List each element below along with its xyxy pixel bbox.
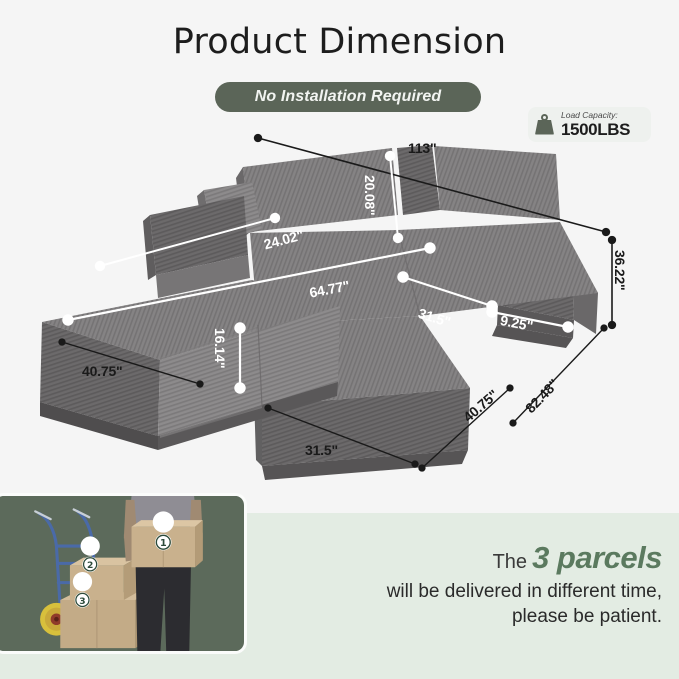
svg-text:2: 2 [87, 561, 93, 571]
dimension-label-overall-height: 36.22" [612, 250, 628, 290]
dimension-label-ottoman-depth: 31.5" [305, 442, 338, 458]
svg-text:1: 1 [160, 538, 167, 549]
no-installation-badge-label: No Installation Required [255, 88, 441, 106]
load-capacity-label: Load Capacity: [561, 111, 630, 120]
delivery-text-line2: will be delivered in different time, [280, 579, 662, 604]
svg-text:3: 3 [79, 597, 85, 607]
delivery-text-line3: please be patient. [280, 604, 662, 629]
delivery-message: The3 parcels will be delivered in differ… [280, 540, 662, 629]
infographic-root: Product Dimension No Installation Requir… [0, 0, 679, 679]
dimension-label-seat-height: 16.14" [212, 328, 228, 368]
sofa-illustration: 113" 20.08" 24.02" 64.77" 31.5" 9.25" 36… [0, 120, 679, 495]
no-installation-badge: No Installation Required [215, 82, 481, 112]
delivery-photo: 1 2 3 [0, 493, 247, 654]
dimension-label-ottoman-width-left: 40.75" [82, 363, 122, 379]
dimension-label-overall-width: 113" [408, 140, 436, 156]
delivery-text-highlight: 3 parcels [532, 540, 662, 575]
dimension-label-backrest-height: 20.08" [362, 175, 378, 215]
delivery-text-prefix: The [493, 551, 527, 573]
page-title: Product Dimension [0, 22, 679, 62]
